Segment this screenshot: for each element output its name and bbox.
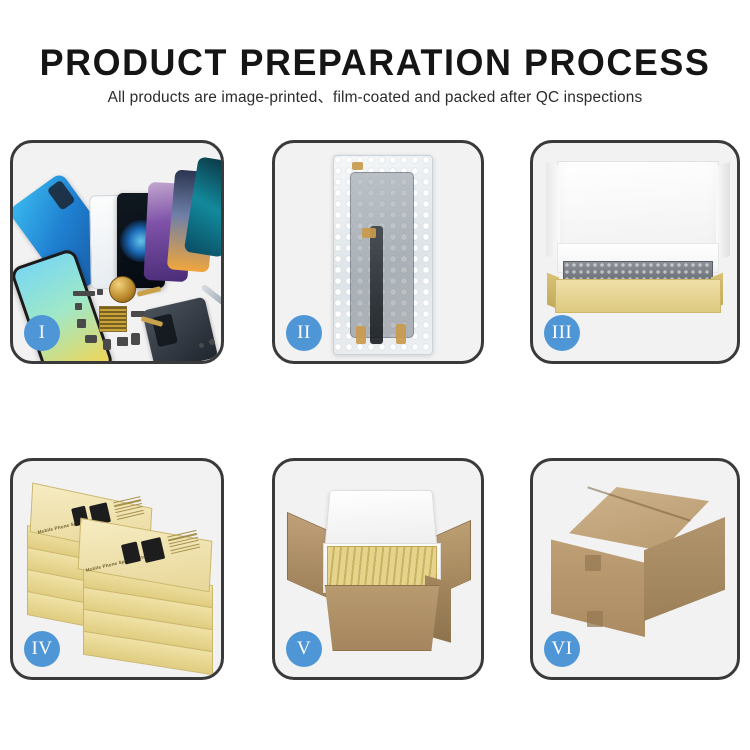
foam-lid bbox=[324, 490, 438, 551]
process-step-grid: I II bbox=[0, 0, 750, 750]
step-badge-3: III bbox=[544, 315, 580, 351]
step-badge-2: II bbox=[286, 315, 322, 351]
tape-strip bbox=[396, 324, 406, 344]
spare-part bbox=[97, 289, 103, 295]
spare-part bbox=[209, 339, 215, 345]
process-step-6: VI bbox=[530, 458, 740, 680]
product-preparation-infographic: PRODUCT PREPARATION PROCESS All products… bbox=[0, 0, 750, 750]
spare-part bbox=[117, 337, 128, 346]
logic-chip-part bbox=[99, 306, 127, 332]
bubble-wrap-bag bbox=[333, 155, 433, 355]
tape-strip bbox=[352, 162, 363, 170]
carton-tape-patch bbox=[585, 555, 601, 571]
step-badge-1: I bbox=[24, 315, 60, 351]
step-badge-6: VI bbox=[544, 631, 580, 667]
shipping-carton bbox=[551, 487, 725, 647]
spare-part bbox=[73, 291, 95, 296]
step-badge-4: IV bbox=[24, 631, 60, 667]
phone-backplate-part bbox=[142, 297, 218, 364]
spare-part bbox=[75, 303, 82, 310]
carton-front-panel bbox=[317, 585, 447, 651]
process-step-2: II bbox=[272, 140, 484, 364]
process-step-3: III bbox=[530, 140, 740, 364]
yellow-box-body bbox=[555, 279, 721, 313]
spare-part bbox=[199, 343, 204, 348]
tape-strip bbox=[362, 228, 376, 238]
yellow-boxes-inside bbox=[327, 546, 437, 588]
spare-part bbox=[85, 335, 97, 343]
process-step-4: Mobile Phone Spare Parts Mobile Phone Sp… bbox=[10, 458, 224, 680]
spare-part bbox=[77, 319, 86, 328]
process-step-5: V bbox=[272, 458, 484, 680]
speaker-coil-part bbox=[109, 276, 136, 303]
tape-strip bbox=[356, 326, 366, 344]
step-badge-5: V bbox=[286, 631, 322, 667]
display-flex-cable bbox=[370, 226, 383, 344]
process-step-1: I bbox=[10, 140, 224, 364]
spare-part bbox=[103, 339, 111, 350]
carton-tape-patch bbox=[587, 611, 603, 627]
spare-part bbox=[131, 333, 140, 345]
